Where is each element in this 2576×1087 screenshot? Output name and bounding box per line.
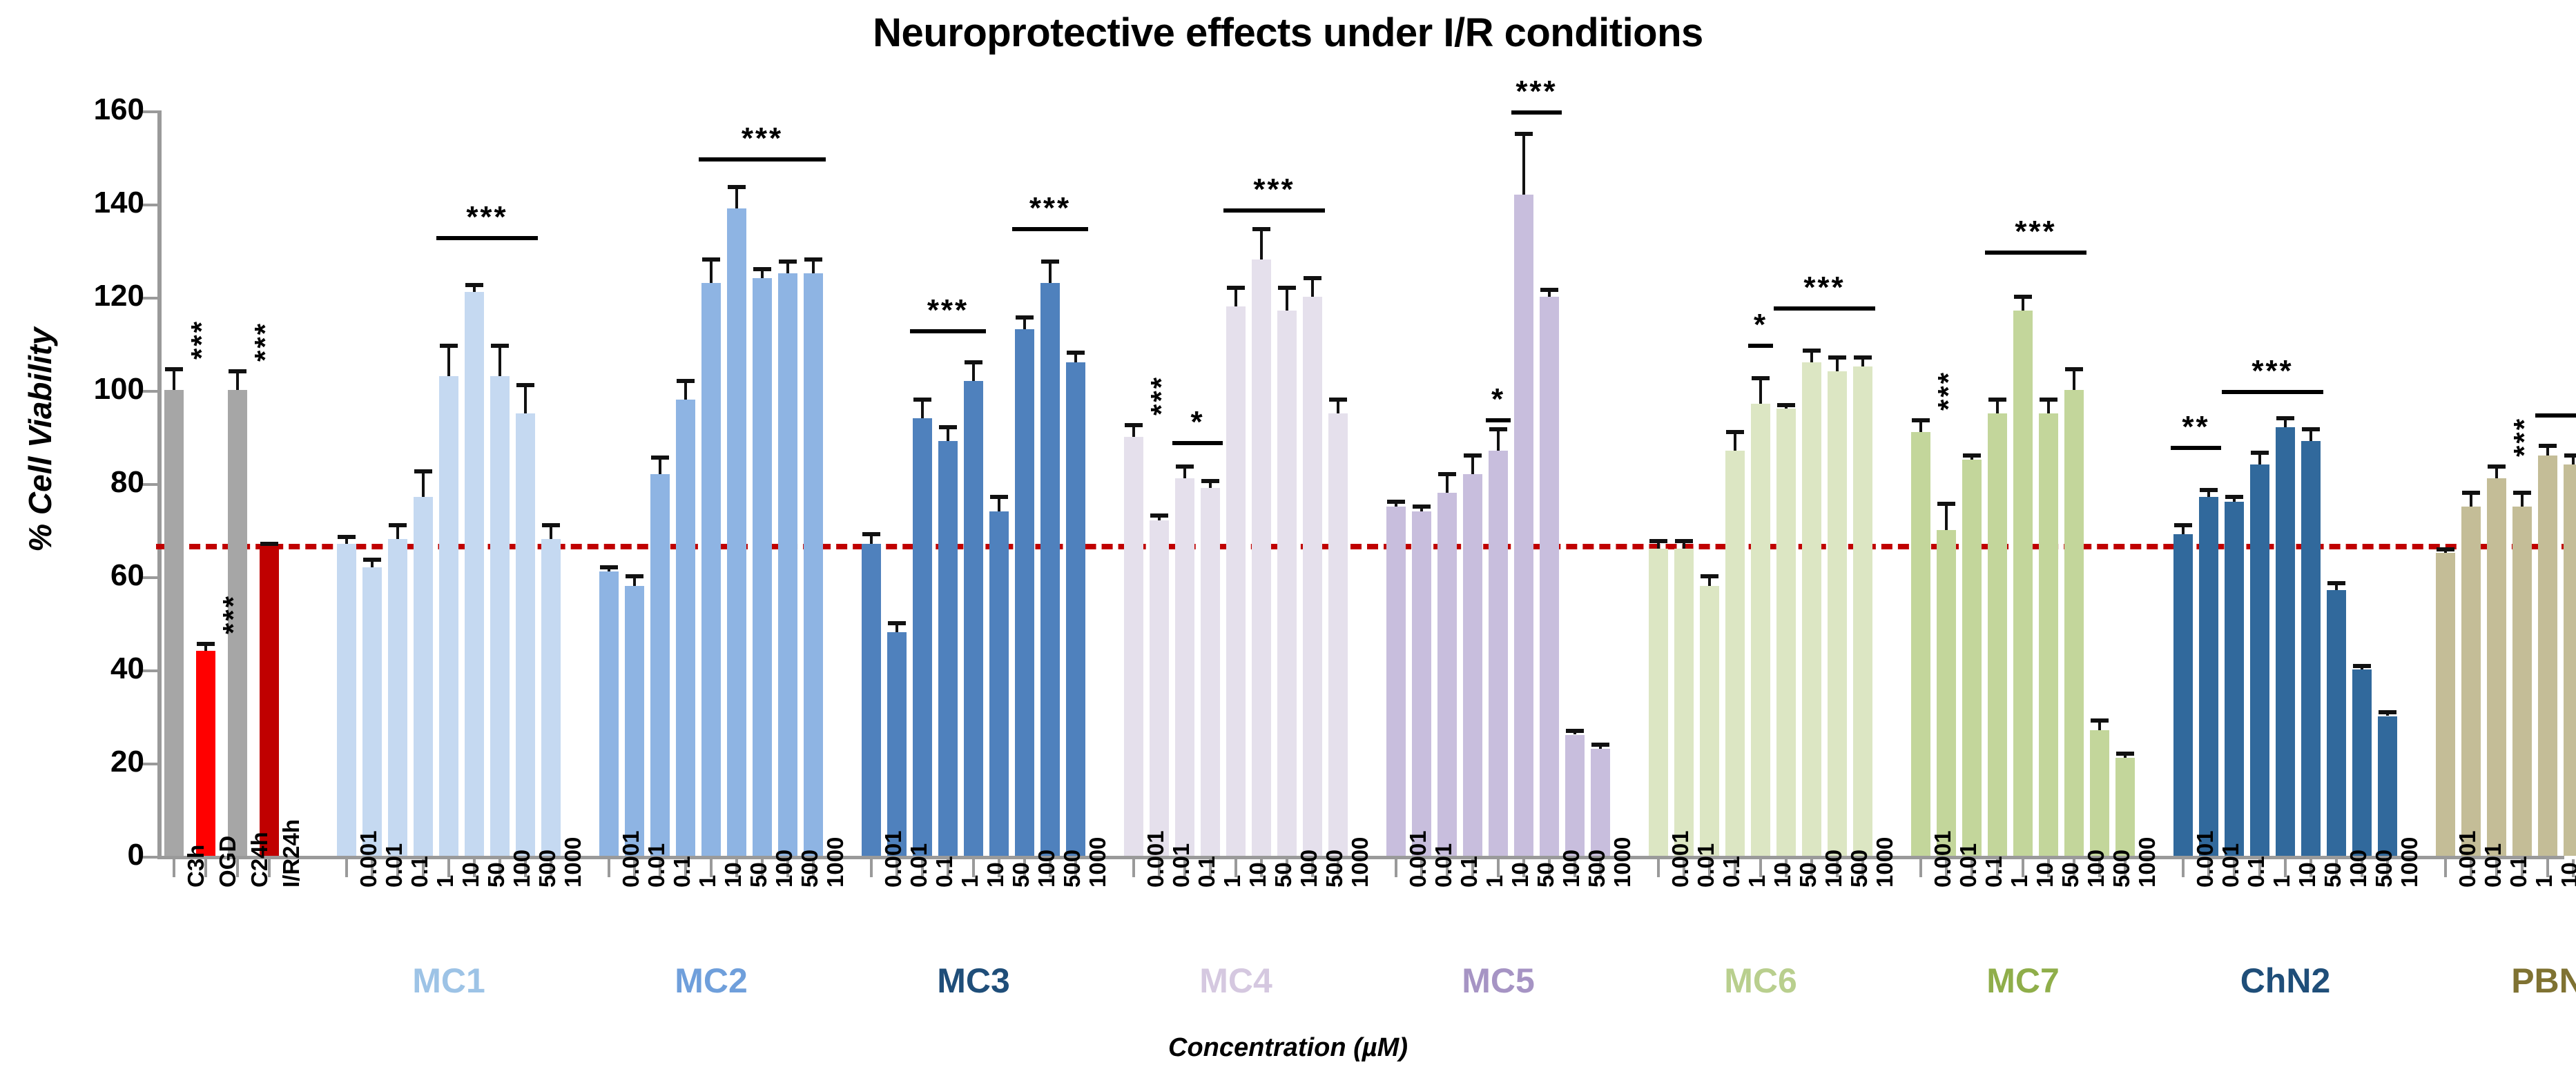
x-axis-tick-label: 1	[2269, 875, 2295, 888]
bar	[2173, 534, 2193, 856]
bar-MC2-500	[778, 110, 797, 856]
error-bar	[2022, 297, 2024, 311]
significance-bracket	[436, 236, 538, 240]
error-bar	[1337, 400, 1339, 413]
error-bar-cap	[1752, 376, 1770, 380]
x-axis-tick-label: 100	[771, 850, 797, 888]
error-bar-cap	[2353, 664, 2371, 668]
error-bar	[812, 259, 815, 273]
error-bar-cap	[2065, 367, 2083, 371]
bar-MC6-0.01	[1674, 110, 1694, 856]
group-label-MC3: MC3	[870, 961, 1077, 1001]
x-axis-tick-label: 0.001	[2454, 830, 2481, 888]
error-bar-cap	[2091, 718, 2109, 723]
significance-bracket	[1748, 344, 1773, 348]
bar	[439, 376, 458, 856]
bar	[164, 390, 184, 856]
bar-MC6-100	[1802, 110, 1821, 856]
bar-ChN2-10	[2276, 110, 2295, 856]
bar	[2225, 502, 2244, 856]
chart-figure: Neuroprotective effects under I/R condit…	[0, 0, 2576, 1087]
y-axis-tick-label: 40	[0, 652, 144, 686]
significance-marker: ***	[2222, 354, 2323, 389]
bar	[388, 539, 407, 856]
bar-PBN-0.01	[2461, 110, 2481, 856]
x-axis-tick-label: 50	[1270, 862, 1297, 888]
x-axis-tick	[1132, 859, 1135, 877]
bar	[804, 273, 823, 856]
error-bar	[173, 369, 175, 390]
error-bar-cap	[2174, 523, 2192, 527]
error-bar-cap	[2564, 453, 2576, 458]
x-axis-tick-label: 0.01	[2480, 843, 2506, 888]
significance-marker: ***	[1223, 173, 1325, 207]
x-axis-tick-label: 0.001	[1930, 830, 1956, 888]
x-axis-tick-label: I/R24h	[278, 819, 304, 888]
bar	[1277, 311, 1297, 856]
group-label-ChN2: ChN2	[2182, 961, 2389, 1001]
bar	[1514, 195, 1533, 856]
significance-marker: **	[2171, 410, 2221, 444]
bar-MC6-50	[1776, 110, 1796, 856]
significance-marker: ***	[436, 200, 538, 235]
bar	[1328, 413, 1348, 856]
bar-MC2-0.1	[650, 110, 670, 856]
error-bar-cap	[1854, 355, 1872, 360]
x-axis-tick-label: 50	[1795, 862, 1821, 888]
x-axis-tick-label: 0.01	[1168, 843, 1194, 888]
bar	[1252, 259, 1271, 856]
bar	[1150, 520, 1169, 856]
x-axis-tick-label: 100	[2345, 850, 2372, 888]
error-bar-cap	[600, 565, 618, 569]
bar	[2538, 456, 2557, 856]
bar-PBN-10	[2538, 110, 2557, 856]
x-axis-tick-label: 0.01	[1431, 843, 1457, 888]
error-bar-cap	[2302, 427, 2320, 431]
error-bar-cap	[338, 535, 356, 539]
error-bar	[735, 187, 738, 208]
error-bar-cap	[516, 383, 534, 387]
error-bar-cap	[1329, 398, 1347, 402]
bar	[2064, 390, 2084, 856]
error-bar	[2521, 493, 2524, 507]
significance-marker: *	[1748, 308, 1773, 342]
bar	[1674, 549, 1694, 856]
significance-marker-vertical: ***	[1145, 375, 1178, 415]
x-axis-tick-label: 50	[483, 862, 510, 888]
error-bar	[1286, 288, 1288, 311]
error-bar-cap	[363, 558, 381, 562]
bar-MC5-100	[1540, 110, 1559, 856]
significance-bracket	[910, 329, 986, 333]
bar	[1937, 530, 1956, 856]
x-axis-tick-label: 1	[2531, 875, 2557, 888]
x-axis-tick-label: 0.001	[880, 830, 907, 888]
error-bar-cap	[1540, 288, 1558, 292]
x-axis-tick-label: 0.1	[407, 856, 433, 888]
significance-marker-vertical: ***	[1932, 371, 1965, 411]
x-axis-tick-label: 1000	[1347, 837, 1373, 888]
error-bar-cap	[888, 621, 906, 625]
x-axis-tick-label: 50	[2320, 862, 2346, 888]
error-bar-cap	[1125, 423, 1143, 427]
bar	[862, 544, 881, 856]
bar-MC2-10	[701, 110, 721, 856]
error-bar-cap	[1176, 464, 1194, 469]
x-axis-tick-label: 500	[1321, 850, 1348, 888]
bar-MC7-0.001	[1911, 110, 1930, 856]
bar	[1303, 297, 1322, 856]
significance-marker-vertical: ***	[185, 320, 218, 360]
bar	[650, 474, 670, 856]
bar	[414, 497, 433, 856]
bar	[676, 400, 695, 856]
bar	[1828, 371, 1847, 856]
x-axis-tick-label: 10	[1770, 862, 1796, 888]
x-axis-tick-label: 1	[957, 875, 983, 888]
bar-MC1-1000	[541, 110, 561, 856]
bar-MC1-0.1	[388, 110, 407, 856]
bar-MC2-1	[676, 110, 695, 856]
error-bar-cap	[2488, 464, 2506, 469]
error-bar-cap	[1304, 276, 1321, 280]
error-bar-cap	[1963, 453, 1981, 458]
bar	[2276, 427, 2295, 856]
significance-marker: *	[1486, 382, 1511, 417]
x-axis-tick-label: 0.01	[2218, 843, 2244, 888]
bar	[1591, 749, 1610, 856]
error-bar	[1497, 429, 1500, 450]
bar-MC2-50	[727, 110, 746, 856]
x-axis-label: Concentration (µM)	[0, 1033, 2576, 1063]
bar	[1853, 366, 1872, 856]
error-bar-cap	[1067, 351, 1085, 355]
error-bar-cap	[1566, 729, 1584, 733]
error-bar-cap	[2116, 752, 2134, 756]
bar-PBN-0.001	[2436, 110, 2455, 856]
bar	[1802, 362, 1821, 856]
error-bar-cap	[1227, 286, 1245, 290]
group-label-MC1: MC1	[345, 961, 552, 1001]
bar-MC6-0.001	[1649, 110, 1668, 856]
x-axis-tick-label: 10	[1507, 862, 1533, 888]
significance-marker: ***	[699, 121, 826, 156]
error-bar	[710, 259, 713, 283]
error-bar-cap	[1912, 418, 1930, 422]
error-bar-cap	[753, 267, 771, 271]
bar	[2013, 311, 2033, 856]
y-axis-tick-label: 20	[0, 745, 144, 779]
x-axis-tick-label: 100	[1034, 850, 1060, 888]
x-axis-tick	[608, 859, 610, 877]
bar-MC5-10	[1489, 110, 1508, 856]
x-axis-tick	[2182, 859, 2185, 877]
bar-MC4-100	[1277, 110, 1297, 856]
x-axis-tick-label: 50	[2057, 862, 2084, 888]
bar	[599, 571, 619, 856]
significance-marker: ***	[1511, 75, 1562, 109]
bar	[2199, 497, 2218, 856]
error-bar	[1945, 504, 1948, 529]
error-bar	[1049, 262, 1052, 282]
x-axis-tick	[1919, 859, 1922, 877]
group-label-MC4: MC4	[1132, 961, 1339, 1001]
bar	[1751, 404, 1770, 856]
x-axis-tick-label: 500	[797, 850, 823, 888]
bar-ChN2-1000	[2378, 110, 2397, 856]
error-bar-cap	[1016, 315, 1034, 320]
bar	[1463, 474, 1482, 856]
bar	[196, 651, 215, 856]
x-axis-tick-label: 0.01	[1693, 843, 1719, 888]
page-title: Neuroprotective effects under I/R condit…	[0, 10, 2576, 56]
x-axis-tick-label: 0.1	[1718, 856, 1745, 888]
x-axis-tick-label: 0.001	[2192, 830, 2218, 888]
error-bar	[550, 525, 552, 539]
x-axis-tick	[870, 859, 873, 877]
significance-bracket	[1172, 441, 1223, 445]
x-axis-tick-label: 0.1	[2506, 856, 2532, 888]
error-bar-cap	[389, 523, 407, 527]
bar-MC7-0.1	[1962, 110, 1982, 856]
error-bar	[998, 497, 1000, 511]
error-bar-cap	[2276, 416, 2294, 420]
x-axis-tick-label: 1	[695, 875, 721, 888]
bar-ChN2-0.01	[2199, 110, 2218, 856]
bar	[625, 586, 644, 856]
error-bar-cap	[1701, 574, 1718, 578]
bar-MC4-500	[1303, 110, 1322, 856]
x-axis-tick-label: 10	[1245, 862, 1271, 888]
bar	[1201, 488, 1220, 856]
x-axis-tick-label: 50	[1533, 862, 1559, 888]
error-bar-cap	[2014, 295, 2032, 299]
bar	[753, 278, 772, 856]
bar-MC3-50	[989, 110, 1009, 856]
error-bar-cap	[702, 257, 720, 262]
bar	[1226, 306, 1246, 856]
error-bar	[1260, 229, 1263, 259]
bar-MC4-0.1	[1175, 110, 1194, 856]
y-axis-tick-label: 0	[0, 838, 144, 872]
bar	[362, 567, 382, 856]
x-axis-tick-label: 0.001	[618, 830, 644, 888]
x-axis-tick-label: 1	[2006, 875, 2033, 888]
bar-MC1-1	[414, 110, 433, 856]
error-bar-cap	[165, 367, 183, 371]
bar	[465, 292, 484, 856]
bar	[2512, 507, 2532, 856]
bar	[2250, 464, 2269, 856]
significance-marker: ***	[1012, 191, 1088, 226]
bar	[1040, 283, 1060, 856]
bar	[1988, 413, 2007, 856]
bar	[913, 418, 932, 856]
error-bar	[1996, 400, 1999, 413]
error-bar-cap	[2040, 398, 2057, 402]
bar-MC6-500	[1828, 110, 1847, 856]
error-bar	[498, 346, 501, 376]
error-bar-cap	[1803, 349, 1821, 353]
y-axis-tick-label: 160	[0, 92, 144, 127]
control-bar-OGD	[196, 110, 215, 856]
x-axis-tick-label: 500	[2371, 850, 2397, 888]
x-axis-tick	[1657, 859, 1660, 877]
x-axis-tick-label: 1000	[1085, 837, 1111, 888]
error-bar-cap	[804, 257, 822, 262]
x-axis-tick-label: 0.01	[906, 843, 932, 888]
error-bar-cap	[626, 574, 643, 578]
bar	[701, 283, 721, 856]
bar	[1540, 297, 1559, 856]
error-bar-cap	[465, 283, 483, 287]
bar-MC3-0.001	[862, 110, 881, 856]
significance-marker-vertical: ***	[2508, 417, 2541, 457]
bar	[1386, 507, 1406, 856]
error-bar	[1836, 358, 1839, 371]
x-axis-tick-label: C24h	[246, 832, 273, 888]
bar	[1649, 549, 1668, 856]
error-bar-cap	[2327, 581, 2345, 585]
error-bar-cap	[2513, 491, 2531, 495]
error-bar-cap	[1413, 505, 1431, 509]
error-bar	[1311, 278, 1314, 297]
bar-MC5-1000	[1591, 110, 1610, 856]
error-bar	[2470, 493, 2472, 507]
bar-MC3-10	[964, 110, 983, 856]
bar-MC2-1000	[804, 110, 823, 856]
error-bar-cap	[491, 344, 509, 348]
bar	[490, 376, 510, 856]
error-bar	[2047, 400, 2050, 413]
bar-MC1-0.001	[337, 110, 356, 856]
x-axis-tick-label: 100	[1821, 850, 1847, 888]
error-bar-cap	[1777, 403, 1795, 407]
x-axis-tick-label: 100	[509, 850, 535, 888]
x-axis-tick-label: 10	[458, 862, 484, 888]
y-axis-label: % Cell Viability	[21, 295, 59, 585]
significance-bracket	[2222, 390, 2323, 394]
error-bar-cap	[728, 185, 746, 189]
error-bar	[1471, 456, 1474, 474]
x-axis-tick-label: 0.1	[1456, 856, 1482, 888]
error-bar-cap	[2251, 451, 2269, 455]
bar-MC4-50	[1252, 110, 1271, 856]
bar-MC6-0.1	[1700, 110, 1719, 856]
x-axis-tick-label: 1000	[822, 837, 849, 888]
group-label-PBN: PBN	[2444, 961, 2576, 1001]
x-axis-tick-label: 1000	[2396, 837, 2423, 888]
bar	[1437, 493, 1457, 856]
significance-marker-vertical: ***	[249, 322, 282, 362]
bar	[2327, 590, 2346, 856]
x-axis-tick	[173, 859, 175, 877]
error-bar-cap	[2379, 710, 2396, 714]
x-axis-tick	[2444, 859, 2447, 877]
error-bar	[524, 385, 527, 413]
bar-MC2-0.001	[599, 110, 619, 856]
error-bar-cap	[2462, 491, 2480, 495]
error-bar-cap	[1489, 427, 1507, 431]
bar-PBN-1	[2512, 110, 2532, 856]
x-axis-tick-label: 500	[2109, 850, 2135, 888]
bar-MC4-0.01	[1150, 110, 1169, 856]
bar-MC3-0.01	[887, 110, 907, 856]
bar	[1911, 432, 1930, 856]
error-bar-cap	[1252, 227, 1270, 231]
bar	[1015, 329, 1034, 856]
bar-MC3-0.1	[913, 110, 932, 856]
x-axis-tick-label: 0.001	[1405, 830, 1431, 888]
x-axis-tick-label: 1000	[1609, 837, 1636, 888]
group-label-MC2: MC2	[608, 961, 815, 1001]
y-axis-tick-label: 140	[0, 186, 144, 220]
error-bar-cap	[1150, 513, 1168, 518]
bar-ChN2-500	[2352, 110, 2372, 856]
error-bar-cap	[542, 523, 560, 527]
bar-MC5-0.1	[1437, 110, 1457, 856]
error-bar-cap	[414, 469, 432, 473]
x-axis-tick-label: 0.1	[1981, 856, 2007, 888]
error-bar-cap	[197, 642, 215, 646]
bar-MC5-1	[1463, 110, 1482, 856]
bar	[2352, 669, 2372, 856]
x-axis-tick-label: 500	[1846, 850, 1872, 888]
bar-MC7-0.01	[1937, 110, 1956, 856]
bar-ChN2-50	[2301, 110, 2321, 856]
x-axis-tick-label: 500	[1584, 850, 1610, 888]
significance-marker: ***	[2535, 378, 2576, 412]
significance-bracket	[1985, 251, 2086, 255]
x-axis-tick-label: 0.001	[1667, 830, 1694, 888]
error-bar	[1759, 378, 1762, 404]
x-axis-tick-label: 1	[432, 875, 458, 888]
group-label-MC5: MC5	[1395, 961, 1602, 1001]
error-bar	[659, 458, 661, 474]
error-bar	[1446, 474, 1449, 493]
group-label-MC7: MC7	[1919, 961, 2127, 1001]
error-bar-cap	[1515, 132, 1533, 136]
y-axis-tick-label: 100	[0, 372, 144, 407]
x-axis-tick-label: 50	[1008, 862, 1034, 888]
x-axis-tick-label: 0.1	[931, 856, 958, 888]
x-axis-tick-label: 1000	[1872, 837, 1898, 888]
bar-MC4-1	[1201, 110, 1220, 856]
error-bar-cap	[2225, 495, 2243, 499]
group-label-MC6: MC6	[1657, 961, 1864, 1001]
bar	[260, 544, 279, 856]
error-bar-cap	[913, 398, 931, 402]
significance-bracket	[1511, 110, 1562, 115]
bar	[989, 511, 1009, 856]
bar-PBN-50	[2564, 110, 2576, 856]
x-axis-tick-label: 0.001	[356, 830, 382, 888]
error-bar-cap	[1438, 472, 1456, 476]
bar	[516, 413, 535, 856]
significance-bracket	[699, 157, 826, 161]
x-axis-tick-label: 0.01	[643, 843, 670, 888]
bar-ChN2-100	[2327, 110, 2346, 856]
significance-marker-vertical: ***	[217, 594, 250, 634]
error-bar-cap	[939, 425, 957, 429]
error-bar-cap	[1726, 430, 1744, 434]
bar	[964, 381, 983, 856]
error-bar-cap	[965, 360, 982, 364]
x-axis-tick-label: 1	[1744, 875, 1770, 888]
bar-MC6-1000	[1853, 110, 1872, 856]
bar-MC7-500	[2090, 110, 2109, 856]
